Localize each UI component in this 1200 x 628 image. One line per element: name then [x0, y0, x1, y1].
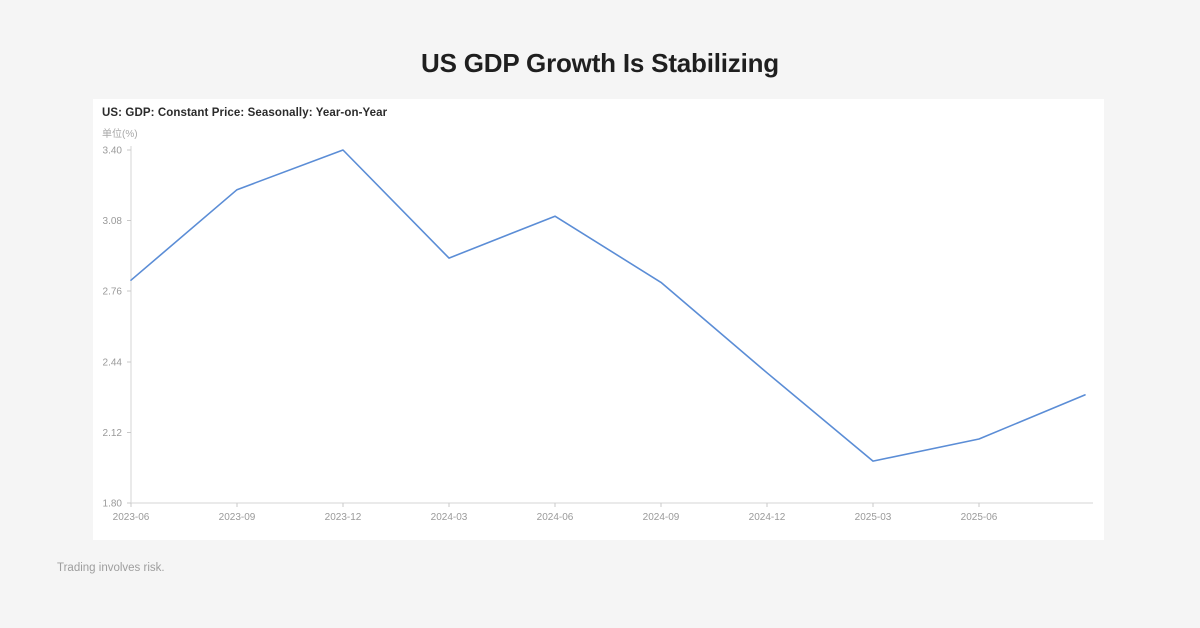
x-tick-label: 2023-12: [325, 512, 362, 523]
x-tick-label: 2023-09: [219, 512, 256, 523]
footer-disclaimer: Trading involves risk.: [57, 562, 165, 574]
x-axis: 2023-062023-092023-122024-032024-062024-…: [113, 503, 1093, 523]
line-chart-plot[interactable]: 3.403.082.762.442.121.80 2023-062023-092…: [93, 99, 1104, 540]
x-tick-label: 2024-06: [537, 512, 574, 523]
x-tick-label: 2024-03: [431, 512, 468, 523]
y-tick-label: 3.40: [103, 146, 123, 157]
chart-panel: US: GDP: Constant Price: Seasonally: Yea…: [93, 99, 1104, 540]
data-series-group: [131, 150, 1085, 461]
screenshot-root: US GDP Growth Is Stabilizing US: GDP: Co…: [0, 0, 1200, 628]
y-axis: 3.403.082.762.442.121.80: [103, 146, 131, 510]
y-tick-label: 2.44: [103, 357, 123, 368]
y-tick-label: 2.76: [103, 287, 123, 298]
x-tick-label: 2024-09: [643, 512, 680, 523]
x-tick-label: 2024-12: [749, 512, 786, 523]
series-line-us-gdp[interactable]: [131, 150, 1085, 461]
y-tick-label: 1.80: [103, 499, 123, 510]
x-tick-label: 2025-03: [855, 512, 892, 523]
y-tick-label: 3.08: [103, 216, 123, 227]
x-tick-label: 2025-06: [961, 512, 998, 523]
x-tick-label: 2023-06: [113, 512, 150, 523]
x-axis-ticks: 2023-062023-092023-122024-032024-062024-…: [113, 503, 998, 523]
y-axis-ticks: 3.403.082.762.442.121.80: [103, 146, 131, 510]
y-tick-label: 2.12: [103, 428, 123, 439]
page-title: US GDP Growth Is Stabilizing: [0, 48, 1200, 79]
